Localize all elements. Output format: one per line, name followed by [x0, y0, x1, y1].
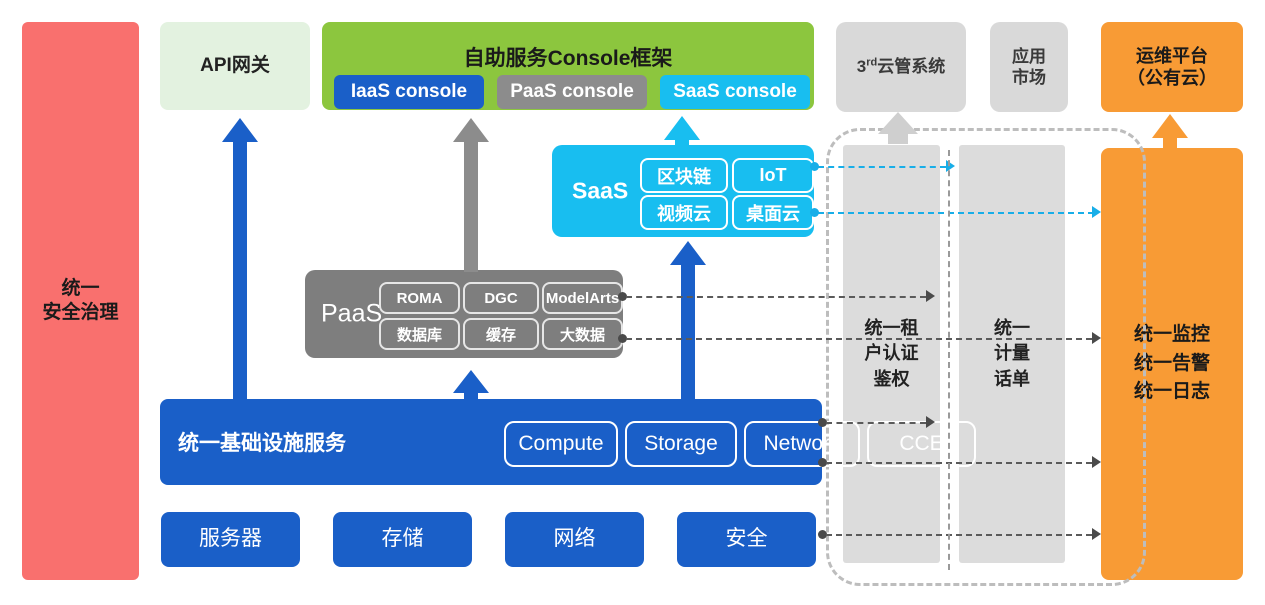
saas-layer-name: SaaS	[572, 178, 628, 205]
paas-item-dgc-label: DGC	[484, 290, 517, 307]
hardware-item-security[interactable]: 安全	[677, 512, 816, 567]
third-party-suffix: 云管系统	[877, 57, 945, 76]
paas-item-roma[interactable]: ROMA	[379, 282, 460, 314]
dashed-line-paas-to-ops	[626, 338, 1092, 340]
arrow-paas-to-console	[453, 118, 489, 272]
saas-item-iot-label: IoT	[760, 165, 787, 186]
arrowhead-paas-to-tenant-auth	[926, 290, 935, 302]
third-party-cloud-mgmt-label: 3rd云管系统	[857, 56, 945, 77]
dashed-line-paas-to-tenant-auth	[626, 296, 926, 298]
paas-item-modelarts-label: ModelArts	[546, 290, 619, 307]
metering-billing-column[interactable]: 统一 计量 话单	[959, 145, 1065, 563]
paas-item-bigdata[interactable]: 大数据	[542, 318, 623, 350]
tenant-auth-label: 统一租 户认证 鉴权	[865, 316, 919, 392]
arrow-infra-to-paas	[453, 370, 489, 400]
paas-item-bigdata-label: 大数据	[560, 324, 605, 345]
api-gateway-label: API网关	[200, 54, 270, 78]
arrow-saas-to-console	[664, 116, 700, 148]
paas-item-cache-label: 缓存	[486, 324, 516, 345]
dashed-line-hardware-to-ops	[826, 534, 1092, 536]
hardware-item-network-label: 网络	[554, 526, 596, 552]
ops-platform-top-card[interactable]: 运维平台 （公有云）	[1101, 22, 1243, 112]
dashed-line-infra-to-ops	[826, 462, 1092, 464]
chip-paas-console[interactable]: PaaS console	[497, 75, 647, 109]
hardware-item-server-label: 服务器	[199, 526, 262, 552]
saas-item-desktop-cloud[interactable]: 桌面云	[732, 195, 814, 230]
infra-item-network-label: Network	[763, 432, 840, 456]
saas-item-blockchain-label: 区块链	[657, 163, 711, 189]
unified-infrastructure-name: 统一基础设施服务	[178, 427, 346, 457]
vertical-dashed-left	[948, 150, 950, 570]
infra-item-network[interactable]: Network	[744, 421, 860, 467]
arrow-infra-to-api-gateway	[222, 118, 258, 400]
saas-item-iot[interactable]: IoT	[732, 158, 814, 193]
infra-item-compute[interactable]: Compute	[504, 421, 618, 467]
arrow-infra-to-saas	[670, 241, 706, 400]
arrowhead-paas-to-ops	[1092, 332, 1101, 344]
chip-saas-console[interactable]: SaaS console	[660, 75, 810, 109]
console-framework-card: 自助服务Console框架 IaaS console PaaS console …	[322, 22, 814, 110]
ops-platform-top-label: 运维平台 （公有云）	[1127, 45, 1217, 90]
infra-item-cce[interactable]: CCE	[867, 421, 976, 467]
unified-infrastructure-card: 统一基础设施服务 Compute Storage Network CCE	[160, 399, 822, 485]
security-governance-panel: 统一 安全治理	[22, 22, 139, 580]
architecture-diagram: 统一 安全治理 API网关 自助服务Console框架 IaaS console…	[0, 0, 1265, 605]
paas-layer-card: PaaS ROMA DGC ModelArts 数据库 缓存 大数据	[305, 270, 623, 358]
infra-item-storage[interactable]: Storage	[625, 421, 737, 467]
dashed-line-saas-to-metering	[818, 166, 946, 168]
third-party-prefix: 3	[857, 57, 866, 76]
saas-item-desktop-cloud-label: 桌面云	[746, 200, 800, 226]
hardware-item-network[interactable]: 网络	[505, 512, 644, 567]
saas-item-video-cloud-label: 视频云	[657, 200, 711, 226]
security-governance-label: 统一 安全治理	[42, 277, 118, 325]
chip-saas-console-label: SaaS console	[673, 81, 797, 103]
hardware-item-storage-label: 存储	[382, 526, 424, 552]
arrowhead-saas-to-ops	[1092, 206, 1101, 218]
paas-layer-name: PaaS	[321, 300, 382, 329]
tenant-auth-column[interactable]: 统一租 户认证 鉴权	[843, 145, 940, 563]
app-market-label: 应用 市场	[1012, 46, 1046, 89]
arrowhead-infra-to-tenant-auth	[926, 416, 935, 428]
paas-item-database-label: 数据库	[397, 324, 442, 345]
third-party-superscript: rd	[866, 57, 877, 69]
hardware-item-storage[interactable]: 存储	[333, 512, 472, 567]
paas-item-roma-label: ROMA	[397, 290, 443, 307]
arrow-ops-bottom-to-top	[1152, 114, 1188, 150]
hardware-item-server[interactable]: 服务器	[161, 512, 300, 567]
dashed-line-saas-to-ops	[818, 212, 1094, 214]
chip-iaas-console[interactable]: IaaS console	[334, 75, 484, 109]
infra-item-compute-label: Compute	[518, 432, 603, 456]
api-gateway-card[interactable]: API网关	[160, 22, 310, 110]
hardware-item-security-label: 安全	[726, 526, 768, 552]
paas-item-modelarts[interactable]: ModelArts	[542, 282, 623, 314]
paas-item-database[interactable]: 数据库	[379, 318, 460, 350]
arrowhead-infra-to-ops	[1092, 456, 1101, 468]
paas-item-dgc[interactable]: DGC	[463, 282, 539, 314]
chip-iaas-console-label: IaaS console	[351, 81, 467, 103]
saas-layer-card: SaaS 区块链 IoT 视频云 桌面云	[552, 145, 814, 237]
paas-item-cache[interactable]: 缓存	[463, 318, 539, 350]
infra-item-cce-label: CCE	[899, 432, 943, 456]
dashed-line-infra-to-tenant-auth	[826, 422, 926, 424]
metering-billing-label: 统一 计量 话单	[994, 316, 1030, 392]
third-party-cloud-mgmt-card[interactable]: 3rd云管系统	[836, 22, 966, 112]
saas-item-video-cloud[interactable]: 视频云	[640, 195, 728, 230]
chip-paas-console-label: PaaS console	[510, 81, 634, 103]
saas-item-blockchain[interactable]: 区块链	[640, 158, 728, 193]
arrowhead-hardware-to-ops	[1092, 528, 1101, 540]
app-market-card[interactable]: 应用 市场	[990, 22, 1068, 112]
console-framework-title: 自助服务Console框架	[322, 42, 814, 72]
infra-item-storage-label: Storage	[644, 432, 718, 456]
